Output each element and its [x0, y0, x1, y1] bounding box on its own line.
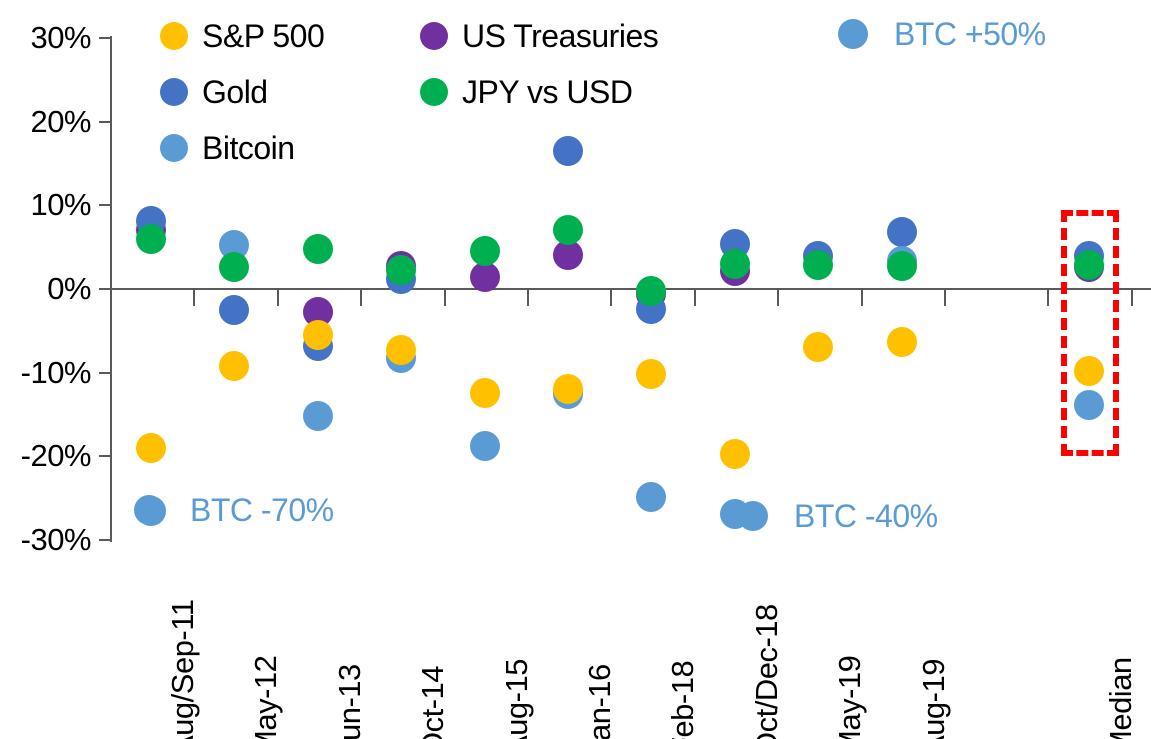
- legend-item-us-treasuries[interactable]: US Treasuries: [420, 20, 658, 52]
- data-point-jpy-vs-usd: [553, 215, 583, 245]
- x-axis-tick-label: Oct/Dec-18: [751, 556, 782, 739]
- x-axis-tick: [360, 290, 362, 306]
- legend-label-jpy-vs-usd: JPY vs USD: [462, 76, 632, 108]
- x-axis-tick: [1131, 290, 1133, 306]
- x-axis-tick: [193, 290, 195, 306]
- x-axis-tick: [1047, 290, 1049, 306]
- x-axis-tick: [944, 290, 946, 306]
- annotation-dot-icon-btc-minus-40: [738, 501, 768, 531]
- legend-label-bitcoin: Bitcoin: [202, 132, 295, 164]
- data-point-s-p-500: [887, 327, 917, 357]
- data-point-bitcoin: [470, 431, 500, 461]
- x-axis-tick: [861, 290, 863, 306]
- data-point-bitcoin: [303, 401, 333, 431]
- y-axis-tick: [99, 539, 110, 541]
- data-point-s-p-500: [636, 359, 666, 389]
- data-point-s-p-500: [303, 320, 333, 350]
- legend-swatch-icon-gold: [160, 78, 188, 106]
- legend-swatch-icon-jpy-vs-usd: [420, 78, 448, 106]
- legend-label-us-treasuries: US Treasuries: [462, 20, 658, 52]
- legend-item-bitcoin[interactable]: Bitcoin: [160, 132, 295, 164]
- median-highlight-box: [1061, 210, 1119, 456]
- data-point-jpy-vs-usd: [470, 236, 500, 266]
- y-axis-tick-label: -10%: [3, 357, 91, 388]
- annotation-label-btc-minus-70: BTC -70%: [190, 494, 334, 526]
- x-axis-tick-label: Median: [1105, 556, 1136, 739]
- x-axis-tick-label: Feb-18: [667, 556, 698, 739]
- data-point-jpy-vs-usd: [887, 251, 917, 281]
- data-point-gold: [219, 295, 249, 325]
- x-axis-tick: [777, 290, 779, 306]
- data-point-jpy-vs-usd: [303, 234, 333, 264]
- y-axis-tick-label: 30%: [3, 22, 91, 53]
- legend-item-jpy-vs-usd[interactable]: JPY vs USD: [420, 76, 632, 108]
- data-point-s-p-500: [136, 433, 166, 463]
- x-axis-tick: [527, 290, 529, 306]
- x-axis-tick: [694, 290, 696, 306]
- data-point-jpy-vs-usd: [219, 252, 249, 282]
- data-point-bitcoin: [636, 482, 666, 512]
- data-point-jpy-vs-usd: [720, 249, 750, 279]
- legend-label-sp500: S&P 500: [202, 20, 324, 52]
- x-axis-tick-label: Oct-14: [417, 556, 448, 739]
- legend-item-sp500[interactable]: S&P 500: [160, 20, 324, 52]
- y-axis-tick-label: 0%: [3, 273, 91, 304]
- x-axis-tick-label: May-19: [834, 556, 865, 739]
- annotation-btc-minus-70: BTC -70%: [134, 494, 334, 526]
- data-point-jpy-vs-usd: [636, 276, 666, 306]
- x-axis-tick-label: May-12: [250, 556, 281, 739]
- y-axis-tick-label: -30%: [3, 524, 91, 555]
- y-axis-tick-label: 20%: [3, 106, 91, 137]
- x-axis-tick-label: Aug-15: [501, 556, 532, 739]
- x-axis-tick-label: Jan-16: [584, 556, 615, 739]
- annotation-dot-icon-btc-plus-50: [838, 19, 868, 49]
- x-axis-tick: [444, 290, 446, 306]
- annotation-btc-plus-50: BTC +50%: [838, 18, 1046, 50]
- data-point-s-p-500: [720, 439, 750, 469]
- y-axis-tick: [99, 288, 110, 290]
- data-point-jpy-vs-usd: [386, 255, 416, 285]
- data-point-us-treasuries: [470, 262, 500, 292]
- annotation-label-btc-minus-40: BTC -40%: [794, 500, 938, 532]
- legend-label-gold: Gold: [202, 76, 268, 108]
- y-axis-tick: [99, 37, 110, 39]
- x-axis-tick-label: Aug/Sep-11: [167, 556, 198, 739]
- y-axis-tick: [99, 121, 110, 123]
- y-axis-tick: [99, 455, 110, 457]
- data-point-s-p-500: [470, 378, 500, 408]
- legend-item-gold[interactable]: Gold: [160, 76, 268, 108]
- data-point-gold: [553, 136, 583, 166]
- x-axis-tick-label: Aug-19: [918, 556, 949, 739]
- data-point-jpy-vs-usd: [136, 224, 166, 254]
- legend-swatch-icon-us-treasuries: [420, 22, 448, 50]
- zero-baseline: [110, 288, 1151, 290]
- annotation-label-btc-plus-50: BTC +50%: [894, 18, 1046, 50]
- y-axis-tick: [99, 204, 110, 206]
- y-axis-tick-label: -20%: [3, 440, 91, 471]
- x-axis-tick-label: Jun-13: [334, 556, 365, 739]
- x-axis-tick: [610, 290, 612, 306]
- data-point-jpy-vs-usd: [803, 250, 833, 280]
- x-axis-tick: [110, 290, 112, 306]
- legend-swatch-icon-bitcoin: [160, 134, 188, 162]
- data-point-s-p-500: [219, 351, 249, 381]
- annotation-dot-icon-btc-minus-70: [134, 495, 164, 525]
- x-axis-tick: [277, 290, 279, 306]
- y-axis-tick-label: 10%: [3, 189, 91, 220]
- data-point-gold: [887, 217, 917, 247]
- legend-swatch-icon-sp500: [160, 22, 188, 50]
- data-point-s-p-500: [803, 332, 833, 362]
- chart-canvas: 30%20%10%0%-10%-20%-30% Aug/Sep-11May-12…: [0, 0, 1151, 739]
- annotation-btc-minus-40: BTC -40%: [738, 500, 938, 532]
- y-axis-tick: [99, 372, 110, 374]
